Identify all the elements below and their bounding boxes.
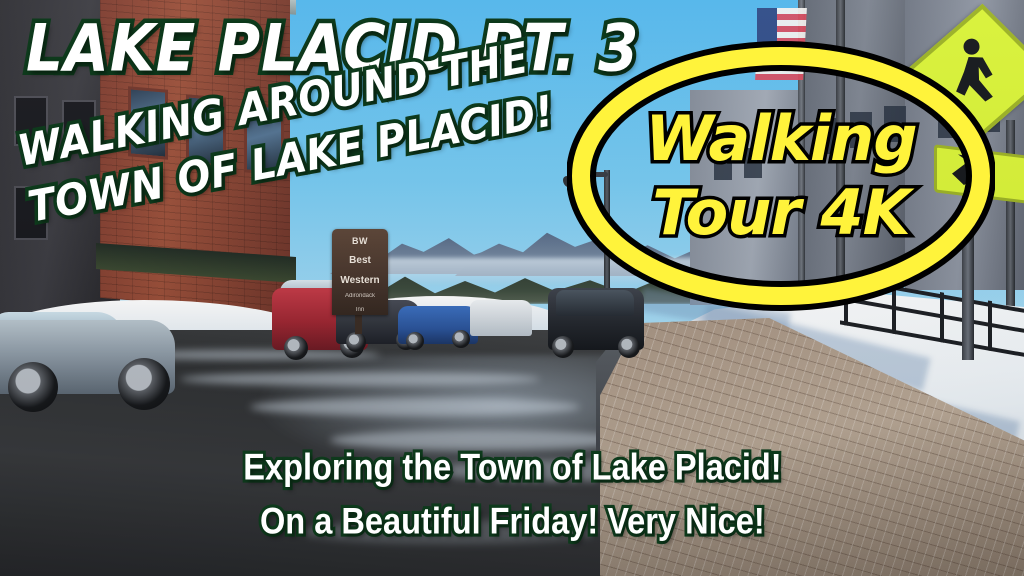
road-salt-streak <box>250 398 580 416</box>
bw-line-3: Adirondack <box>332 293 388 300</box>
wheel <box>346 332 366 352</box>
badge-line-1: Walking <box>645 108 916 170</box>
badge-line-2: Tour 4K <box>652 182 909 244</box>
car-body <box>470 300 532 336</box>
badge-text-group: Walking Tour 4K <box>567 41 995 311</box>
bottom-caption-line-2: On a Beautiful Friday! Very Nice! <box>260 501 765 543</box>
wheel <box>118 358 170 410</box>
best-western-sign: BW Best Western Adirondack Inn <box>332 229 388 315</box>
road-salt-streak <box>180 372 540 386</box>
sign-post <box>355 312 362 334</box>
wheel <box>406 332 424 350</box>
bottom-caption-line-1: Exploring the Town of Lake Placid! <box>243 447 781 489</box>
bw-line-2: Western <box>332 275 388 286</box>
wheel <box>452 330 470 348</box>
bw-logo-text: BW <box>332 236 388 246</box>
wheel <box>618 336 640 358</box>
wheel <box>284 336 308 360</box>
wheel <box>552 336 574 358</box>
bottom-caption-group: Exploring the Town of Lake Placid! On a … <box>0 448 1024 542</box>
thumbnail-canvas: BW Best Western Adirondack Inn <box>0 0 1024 576</box>
bw-line-1: Best <box>332 255 388 266</box>
walking-tour-badge: Walking Tour 4K <box>567 41 995 311</box>
wheel <box>8 362 58 412</box>
us-flag-canton <box>757 8 777 42</box>
bw-line-4: Inn <box>332 307 388 314</box>
